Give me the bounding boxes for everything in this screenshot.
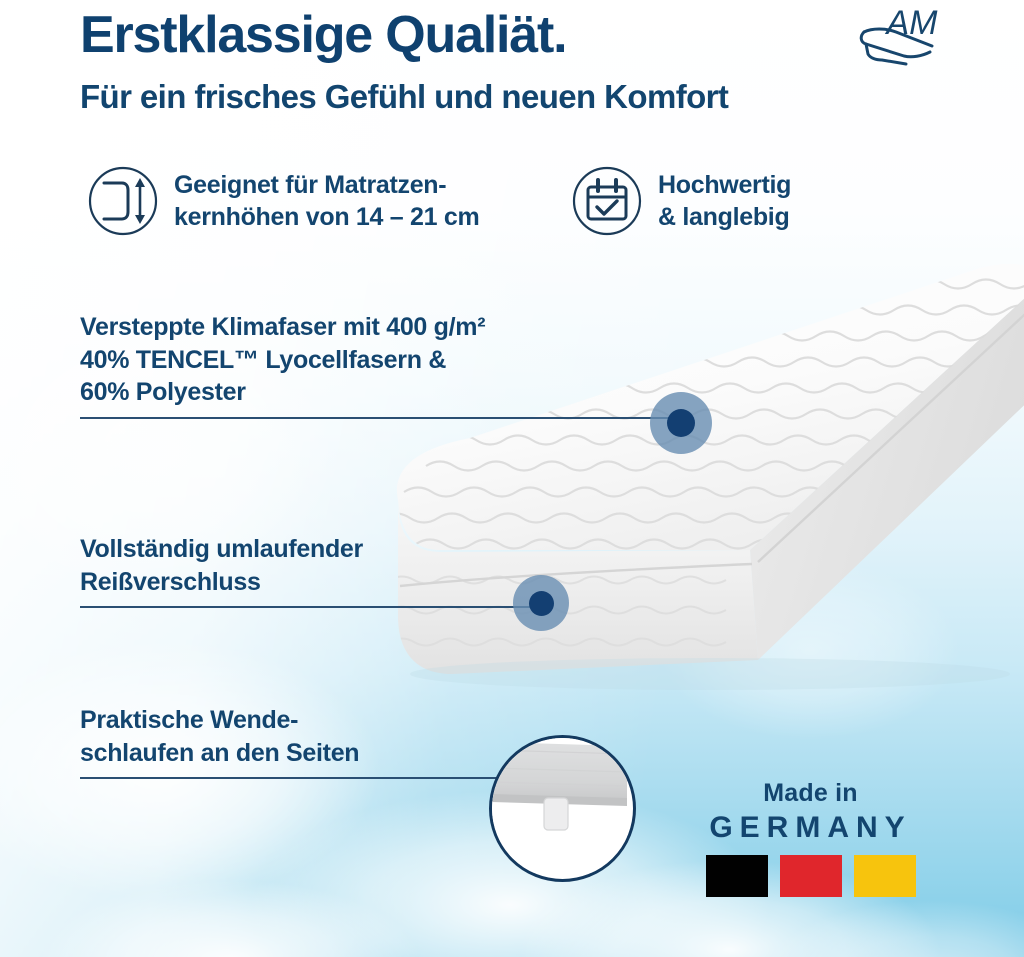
brand-logo[interactable]: AM bbox=[856, 4, 966, 66]
feature-line-2: & langlebig bbox=[658, 203, 789, 231]
page-title: Erstklassige Qualiät. bbox=[80, 9, 566, 62]
marker-core bbox=[529, 591, 554, 616]
callout-connector-line bbox=[80, 606, 532, 608]
detail-photo-circle bbox=[489, 735, 636, 882]
callout-turning-loops: Praktische Wende- schlaufen an den Seite… bbox=[80, 704, 505, 779]
mattress-loop-detail-image bbox=[492, 738, 627, 873]
mattress-height-arrow-icon bbox=[88, 166, 158, 236]
callout-line-2: Reißverschluss bbox=[80, 568, 261, 596]
feature-mattress-height: Geeignet für Matratzen- kernhöhen von 14… bbox=[88, 166, 479, 236]
callout-line-1: Versteppte Klimafaser mit 400 g/m² bbox=[80, 313, 485, 341]
logo-text-am: AM bbox=[885, 4, 939, 42]
callout-marker-dot bbox=[650, 392, 712, 454]
feature-line-1: Hochwertig bbox=[658, 171, 791, 199]
german-flag-swatches bbox=[704, 855, 917, 897]
made-in-label: Made in bbox=[704, 779, 917, 808]
callout-line-1: Vollständig umlaufender bbox=[80, 535, 363, 563]
callout-connector-line bbox=[80, 777, 505, 779]
infographic-canvas: Erstklassige Qualiät. Für ein frisches G… bbox=[0, 0, 1024, 957]
feature-durability: Hochwertig & langlebig bbox=[572, 166, 791, 236]
turning-loop bbox=[544, 798, 568, 830]
feature-label: Hochwertig & langlebig bbox=[658, 169, 791, 233]
flag-swatch-gold bbox=[854, 855, 916, 897]
feature-label: Geeignet für Matratzen- kernhöhen von 14… bbox=[174, 169, 479, 233]
callout-line-3: 60% Polyester bbox=[80, 378, 246, 406]
calendar-check-icon bbox=[572, 166, 642, 236]
callout-connector-line bbox=[80, 417, 680, 419]
callout-text: Vollständig umlaufender Reißverschluss bbox=[80, 533, 532, 598]
feature-line-2: kernhöhen von 14 – 21 cm bbox=[174, 203, 479, 231]
callout-line-2: schlaufen an den Seiten bbox=[80, 739, 359, 767]
callout-climate-fiber: Versteppte Klimafaser mit 400 g/m² 40% T… bbox=[80, 311, 680, 419]
callout-marker-dot bbox=[513, 575, 569, 631]
flag-swatch-red bbox=[780, 855, 842, 897]
callout-text: Praktische Wende- schlaufen an den Seite… bbox=[80, 704, 505, 769]
page-subtitle: Für ein frisches Gefühl und neuen Komfor… bbox=[80, 78, 728, 116]
callout-text: Versteppte Klimafaser mit 400 g/m² 40% T… bbox=[80, 311, 680, 409]
callout-line-1: Praktische Wende- bbox=[80, 706, 298, 734]
feature-line-1: Geeignet für Matratzen- bbox=[174, 171, 446, 199]
made-in-germany-badge: Made in GERMANY bbox=[704, 779, 917, 897]
callout-zipper: Vollständig umlaufender Reißverschluss bbox=[80, 533, 532, 608]
callout-line-2: 40% TENCEL™ Lyocellfasern & bbox=[80, 346, 446, 374]
germany-label: GERMANY bbox=[704, 810, 917, 845]
marker-core bbox=[667, 409, 695, 437]
flag-swatch-black bbox=[706, 855, 768, 897]
